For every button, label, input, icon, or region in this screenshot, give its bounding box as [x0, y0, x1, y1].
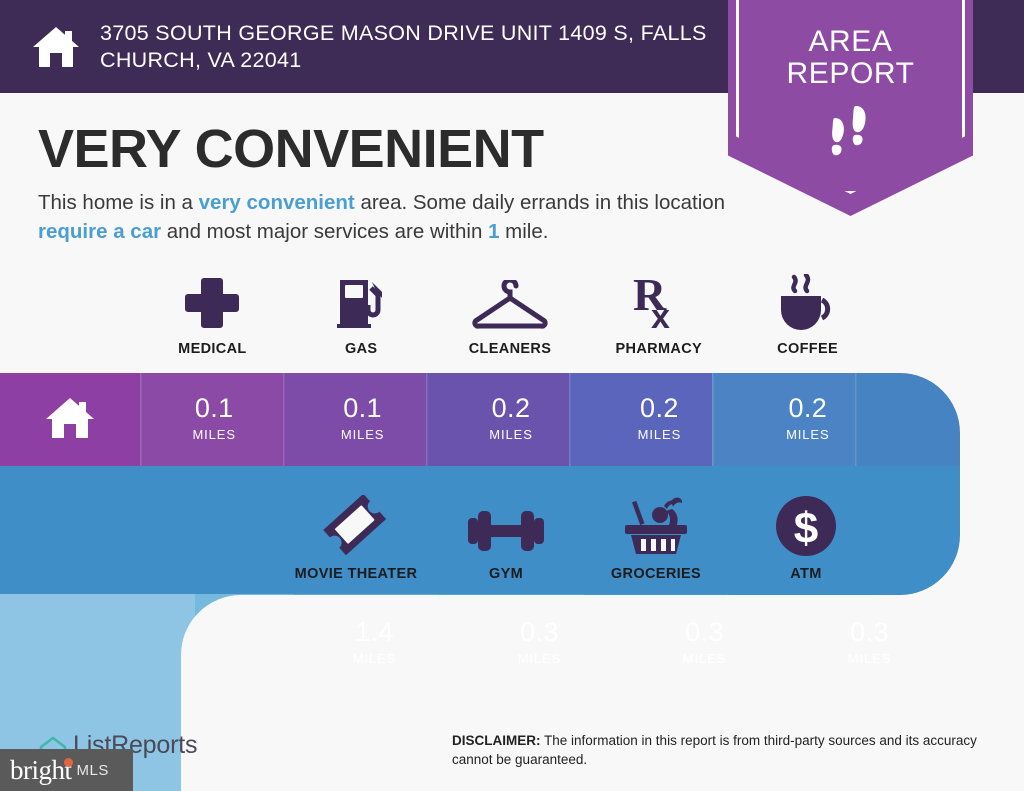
distance-row-1: 0.1 MILES 0.1 MILES 0.2 MILES 0.2 MILES … — [0, 373, 882, 463]
medical-cross-icon — [183, 270, 241, 332]
distance-value: 0.2 — [640, 395, 679, 422]
origin-home-cell — [0, 373, 140, 463]
badge-line-2: REPORT — [728, 58, 973, 90]
gas-pump-icon — [332, 270, 390, 332]
home-icon — [30, 21, 82, 73]
bright-mls-watermark: bright MLS — [0, 749, 133, 791]
movie-ticket-icon — [323, 495, 389, 557]
badge-line-1: AREA — [728, 26, 973, 58]
distance-value: 0.3 — [850, 619, 889, 646]
watermark-brand-text: bright — [10, 755, 72, 785]
distance-unit: MILES — [786, 427, 830, 442]
dumbbell-icon — [466, 495, 546, 557]
badge-title: AREA REPORT — [728, 26, 973, 91]
amenity-label: GROCERIES — [611, 566, 701, 582]
amenity-label: MOVIE THEATER — [295, 566, 418, 582]
distance-cell: 0.1 MILES — [288, 373, 436, 463]
amenity-medical: MEDICAL — [138, 270, 287, 357]
summary-highlight-1: very convenient — [199, 191, 355, 214]
distance-value: 0.2 — [788, 395, 827, 422]
distance-value: 0.1 — [343, 395, 382, 422]
amenity-movie-theater: MOVIE THEATER — [281, 495, 431, 582]
amenity-groceries: GROCERIES — [581, 495, 731, 582]
distance-cell: 0.1 MILES — [140, 373, 288, 463]
distance-unit: MILES — [341, 427, 385, 442]
summary-part-3: and most major services are within — [161, 220, 488, 243]
amenity-label: MEDICAL — [178, 341, 247, 357]
amenity-label: CLEANERS — [469, 341, 552, 357]
distance-cell: 0.2 MILES — [585, 373, 733, 463]
distance-cell: 0.2 MILES — [437, 373, 585, 463]
amenity-atm: $ ATM — [731, 495, 881, 582]
summary-part-1: This home is in a — [38, 191, 199, 214]
summary-part-4: mile. — [499, 220, 548, 243]
disclaimer-label: DISCLAIMER: — [452, 733, 541, 748]
distance-unit: MILES — [848, 651, 892, 666]
distance-cell: 0.3 MILES — [787, 597, 952, 687]
amenity-label: PHARMACY — [615, 341, 702, 357]
summary-part-2: area. Some daily errands in this locatio… — [355, 191, 725, 214]
footsteps-icon — [820, 104, 882, 160]
grocery-basket-icon — [620, 495, 692, 557]
amenity-cleaners: CLEANERS — [436, 270, 585, 357]
svg-text:$: $ — [794, 504, 818, 553]
summary-highlight-2: require a car — [38, 220, 161, 243]
amenity-label: COFFEE — [777, 341, 838, 357]
summary-highlight-3: 1 — [488, 220, 499, 243]
distance-value: 0.3 — [685, 619, 724, 646]
amenity-gym: GYM — [431, 495, 581, 582]
summary-text: This home is in a very convenient area. … — [38, 188, 728, 246]
distance-value: 1.4 — [355, 619, 394, 646]
distance-unit: MILES — [192, 427, 236, 442]
distance-unit: MILES — [683, 651, 727, 666]
ribbon-tail-cell — [181, 597, 292, 687]
watermark-brand: bright — [10, 755, 72, 786]
spark-icon — [64, 758, 73, 767]
distance-cell: 0.2 MILES — [734, 373, 882, 463]
svg-text:x: x — [651, 298, 670, 332]
watermark-suffix: MLS — [77, 762, 109, 779]
hanger-icon — [471, 270, 549, 332]
distance-cell: 1.4 MILES — [292, 597, 457, 687]
distance-cell: 0.3 MILES — [457, 597, 622, 687]
dollar-circle-icon: $ — [775, 495, 837, 557]
amenity-icon-row-2: MOVIE THEATER GYM — [281, 495, 881, 582]
amenity-gas: GAS — [287, 270, 436, 357]
amenity-pharmacy: R x PHARMACY — [584, 270, 733, 357]
area-report-badge: AREA REPORT — [728, 0, 973, 216]
distance-row-2: 1.4 MILES 0.3 MILES 0.3 MILES 0.3 MILES — [181, 597, 952, 687]
page-title: VERY CONVENIENT — [38, 118, 544, 180]
amenity-label: ATM — [790, 566, 821, 582]
coffee-cup-icon — [777, 270, 839, 332]
amenity-label: GAS — [345, 341, 377, 357]
amenity-coffee: COFFEE — [733, 270, 882, 357]
distance-unit: MILES — [638, 427, 682, 442]
distance-value: 0.1 — [195, 395, 234, 422]
area-report-page: 3705 SOUTH GEORGE MASON DRIVE UNIT 1409 … — [0, 0, 1024, 791]
property-address: 3705 SOUTH GEORGE MASON DRIVE UNIT 1409 … — [100, 20, 720, 72]
distance-cell: 0.3 MILES — [622, 597, 787, 687]
distance-value: 0.3 — [520, 619, 559, 646]
amenity-icon-row-1: MEDICAL GAS CLEANERS — [138, 270, 882, 357]
home-icon — [43, 393, 97, 443]
distance-unit: MILES — [353, 651, 397, 666]
distance-unit: MILES — [489, 427, 533, 442]
amenity-label: GYM — [489, 566, 523, 582]
distance-unit: MILES — [518, 651, 562, 666]
distance-value: 0.2 — [492, 395, 531, 422]
disclaimer: DISCLAIMER: The information in this repo… — [452, 731, 997, 769]
rx-icon: R x — [631, 270, 687, 332]
